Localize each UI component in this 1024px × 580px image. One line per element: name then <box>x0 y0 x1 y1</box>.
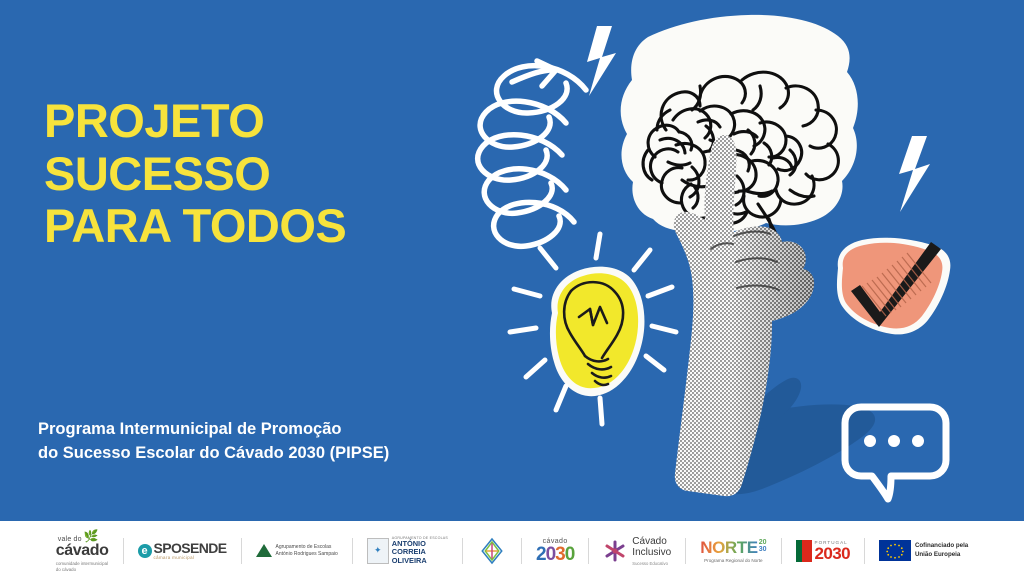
divider <box>352 538 353 564</box>
logo-vale-do-cavado[interactable]: vale do 🌿 cávado comunidade intermunicip… <box>56 530 109 572</box>
cavado-inclusivo-sub: Sucesso Educativo <box>632 561 671 566</box>
triangle-icon <box>256 544 272 557</box>
logo-norte-2030[interactable]: NORTE 20 30 Programa Regional do Norte <box>700 530 766 572</box>
leaf-icon: 🌿 <box>84 529 99 543</box>
poster-banner: PROJETO SUCESSO PARA TODOS Programa Inte… <box>0 0 1024 580</box>
esposende-mark-icon: e <box>138 544 152 558</box>
divider <box>241 538 242 564</box>
agrupamento-ars-text: Agrupamento de Escolas António Rodrigues… <box>276 544 338 558</box>
lightning-bolt-icon <box>899 136 930 212</box>
divider <box>462 538 463 564</box>
vale-do-cavado-tagline: comunidade intermunicipal do cávado <box>56 561 108 572</box>
logo-agrupamento-ars[interactable]: Agrupamento de Escolas António Rodrigues… <box>256 530 338 572</box>
hero-section: PROJETO SUCESSO PARA TODOS Programa Inte… <box>0 0 1024 521</box>
divider <box>123 538 124 564</box>
logo-agrupamento-aco[interactable]: ✦ AGRUPAMENTO DE ESCOLAS ANTÓNIO CORREIA… <box>367 530 448 572</box>
norte-year: 20 30 <box>759 540 767 553</box>
divider <box>781 538 782 564</box>
page-subtitle: Programa Intermunicipal de Promoção do S… <box>38 418 389 466</box>
spiral-arrow-icon <box>478 61 586 246</box>
page-title: PROJETO SUCESSO PARA TODOS <box>44 95 346 253</box>
norte-title: NORTE <box>700 539 758 556</box>
logo-cavado-inclusivo[interactable]: Cávado Inclusivo Sucesso Educativo <box>603 530 671 572</box>
escola-crest-icon <box>477 536 507 566</box>
logo-portugal-2030[interactable]: PORTUGAL 2030 <box>796 530 850 572</box>
divider <box>685 538 686 564</box>
logo-escola-crest[interactable] <box>477 530 507 572</box>
sponsor-logo-bar: vale do 🌿 cávado comunidade intermunicip… <box>0 521 1024 580</box>
pointing-hand-illustration <box>640 110 860 520</box>
snowflake-star-icon <box>603 539 627 563</box>
vale-do-cavado-name: cávado <box>56 543 109 559</box>
divider <box>864 538 865 564</box>
digit-2: 2 <box>536 544 546 565</box>
portugal-year: 2030 <box>815 545 850 562</box>
cavado-2030-digits: 2030 <box>536 545 574 564</box>
logo-esposende[interactable]: e SPOSENDE câmara municipal <box>138 530 227 572</box>
logo-cavado-2030[interactable]: cávado 2030 <box>536 530 574 572</box>
norte-year-bot: 30 <box>759 547 767 554</box>
portugal-flag-icon <box>796 540 812 562</box>
divider <box>588 538 589 564</box>
divider <box>521 538 522 564</box>
esposende-name: SPOSENDE <box>154 541 227 555</box>
logo-uniao-europeia[interactable]: Cofinanciado pela União Europeia <box>879 530 968 572</box>
lightning-bolt-icon <box>587 26 616 96</box>
digit-0b: 0 <box>565 544 575 565</box>
school-crest-icon: ✦ <box>367 538 389 564</box>
digit-0: 0 <box>546 544 556 565</box>
eu-flag-icon <box>879 540 911 561</box>
eu-text: Cofinanciado pela União Europeia <box>915 542 968 558</box>
norte-sub: Programa Regional do Norte <box>704 558 762 563</box>
esposende-sub: câmara municipal <box>154 555 227 560</box>
cavado-inclusivo-title: Cávado Inclusivo <box>632 536 671 559</box>
digit-3: 3 <box>555 544 565 565</box>
aco-title: ANTÓNIO CORREIA OLIVEIRA <box>392 540 448 565</box>
